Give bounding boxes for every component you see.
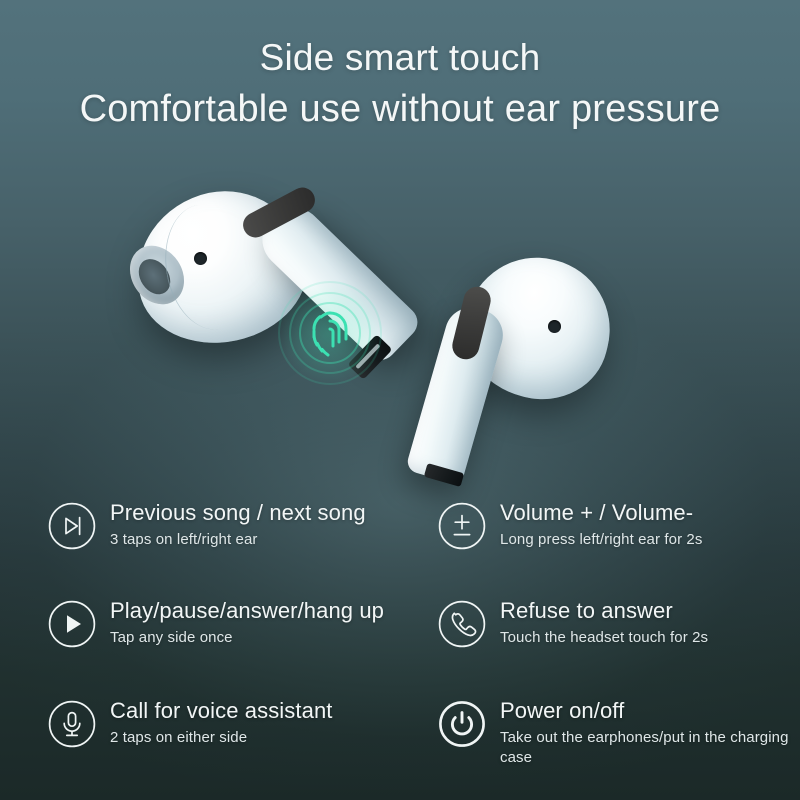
feature-list: Previous song / next song 3 taps on left… bbox=[0, 492, 800, 792]
title-line-1: Side smart touch bbox=[0, 34, 800, 81]
fingerprint-touch-icon bbox=[278, 281, 382, 385]
feature-subtitle: 2 taps on either side bbox=[110, 728, 333, 748]
feature-text: Refuse to answer Touch the headset touch… bbox=[500, 598, 708, 648]
feature-title: Power on/off bbox=[500, 698, 792, 724]
play-icon bbox=[48, 600, 96, 648]
right-earbud-body bbox=[450, 243, 625, 414]
feature-title: Call for voice assistant bbox=[110, 698, 333, 724]
touch-halo bbox=[278, 281, 382, 385]
feature-item-refuse-answer: Refuse to answer Touch the headset touch… bbox=[438, 598, 708, 648]
right-earbud-mic-dot bbox=[548, 320, 561, 333]
feature-subtitle: Touch the headset touch for 2s bbox=[500, 628, 708, 648]
right-earbud-touch-pad bbox=[449, 284, 493, 362]
feature-item-voice-assistant: Call for voice assistant 2 taps on eithe… bbox=[48, 698, 333, 748]
left-earbud-stem-end bbox=[347, 334, 392, 379]
left-earbud-mic-dot bbox=[194, 252, 207, 265]
power-icon bbox=[438, 700, 486, 748]
feature-item-previous-next-song: Previous song / next song 3 taps on left… bbox=[48, 500, 366, 550]
feature-text: Play/pause/answer/hang up Tap any side o… bbox=[110, 598, 384, 648]
feature-subtitle: Long press left/right ear for 2s bbox=[500, 530, 702, 550]
touch-ring-mid bbox=[289, 292, 371, 374]
product-infographic: Side smart touch Comfortable use without… bbox=[0, 0, 800, 800]
right-earbud-stem-end bbox=[424, 463, 464, 487]
right-earbud-stem bbox=[405, 301, 509, 485]
touch-ring-inner bbox=[299, 302, 361, 364]
microphone-icon bbox=[48, 700, 96, 748]
feature-title: Volume + / Volume- bbox=[500, 500, 702, 526]
touch-ring-outer bbox=[278, 281, 382, 385]
left-earbud bbox=[130, 186, 400, 386]
feature-text: Volume + / Volume- Long press left/right… bbox=[500, 500, 702, 550]
next-track-icon bbox=[48, 502, 96, 550]
right-earbud bbox=[410, 258, 640, 488]
volume-plus-minus-icon bbox=[438, 502, 486, 550]
feature-title: Previous song / next song bbox=[110, 500, 366, 526]
feature-subtitle: Take out the earphones/put in the chargi… bbox=[500, 728, 792, 768]
feature-item-play-pause: Play/pause/answer/hang up Tap any side o… bbox=[48, 598, 384, 648]
phone-icon bbox=[438, 600, 486, 648]
feature-subtitle: 3 taps on left/right ear bbox=[110, 530, 366, 550]
feature-item-power: Power on/off Take out the earphones/put … bbox=[438, 698, 792, 768]
feature-text: Previous song / next song 3 taps on left… bbox=[110, 500, 366, 550]
feature-title: Refuse to answer bbox=[500, 598, 708, 624]
feature-text: Call for voice assistant 2 taps on eithe… bbox=[110, 698, 333, 748]
feature-item-volume: Volume + / Volume- Long press left/right… bbox=[438, 500, 702, 550]
left-earbud-stem bbox=[250, 195, 424, 366]
left-earbud-touch-pad bbox=[239, 183, 320, 242]
left-earbud-body bbox=[122, 176, 319, 358]
feature-subtitle: Tap any side once bbox=[110, 628, 384, 648]
feature-title: Play/pause/answer/hang up bbox=[110, 598, 384, 624]
title-line-2: Comfortable use without ear pressure bbox=[0, 85, 800, 134]
left-earbud-ear-tip bbox=[119, 235, 195, 314]
page-title: Side smart touch Comfortable use without… bbox=[0, 34, 800, 134]
feature-text: Power on/off Take out the earphones/put … bbox=[500, 698, 792, 768]
left-earbud-seam bbox=[156, 198, 262, 337]
